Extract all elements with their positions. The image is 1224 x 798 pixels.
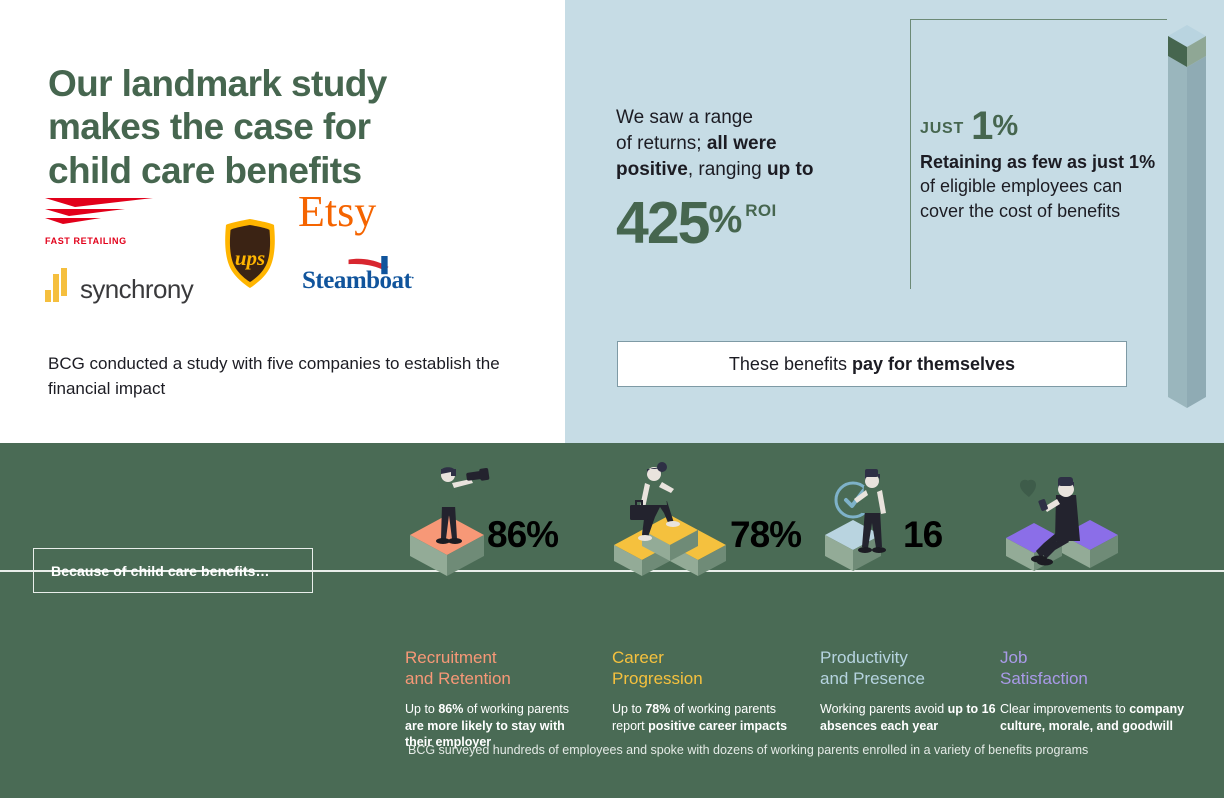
roi-lead-line-3-plain: , ranging	[688, 159, 767, 180]
roi-suffix-label: ROI	[745, 201, 776, 221]
stat-3-title: Job Satisfaction	[1000, 648, 1088, 690]
stat-2-title-line-1: Productivity	[820, 648, 908, 667]
roi-panel: We saw a range of returns; all were posi…	[565, 0, 1224, 443]
stat-1-desc-plain-1: Up to	[612, 702, 645, 716]
logo-fast-retailing: FAST RETAILING	[45, 196, 155, 246]
synchrony-bars-icon	[45, 268, 73, 302]
person-seated-with-heart-icon	[1000, 463, 1205, 578]
stat-3-description: Clear improvements to company culture, m…	[1000, 701, 1185, 734]
logo-etsy-label: Etsy	[298, 190, 376, 234]
stat-1-title-line-2: Progression	[612, 669, 703, 688]
callout-banner: These benefitspay for themselves	[617, 341, 1127, 387]
intro-panel: Our landmark study makes the case for ch…	[0, 0, 565, 443]
just-value: 1	[971, 108, 992, 144]
just-body-plain: of eligible employees can cover the cost…	[920, 176, 1122, 220]
stat-2-title-line-2: and Presence	[820, 669, 925, 688]
stat-0-desc-plain-2: of working parents	[463, 702, 569, 716]
stat-0-desc-plain-1: Up to	[405, 702, 438, 716]
roi-lead-text: We saw a range of returns; all were posi…	[616, 105, 916, 184]
stat-0-value: 86%	[487, 516, 558, 553]
company-logo-row: FAST RETAILING Etsy ups synchrony	[40, 190, 500, 320]
isometric-column-graphic	[1150, 8, 1224, 418]
stat-1-title: Career Progression	[612, 648, 703, 690]
just-label: JUST	[920, 120, 964, 138]
roi-lead-line-3-bold2: up to	[767, 159, 813, 180]
stat-1-title-line-1: Career	[612, 648, 664, 667]
stat-0-title-line-1: Recruitment	[405, 648, 497, 667]
stat-1-desc-bold-2: positive career impacts	[648, 719, 787, 733]
stat-3-title-line-1: Job	[1000, 648, 1027, 667]
logo-etsy: Etsy	[298, 190, 376, 234]
because-of-benefits-label: Because of child care benefits…	[33, 548, 313, 593]
stat-career-progression: 78% Career Progression Up to 78% of work…	[612, 463, 817, 578]
roi-lead-line-1: We saw a range	[616, 107, 753, 128]
stat-1-description: Up to 78% of working parents report posi…	[612, 701, 797, 734]
svg-text:ups: ups	[235, 246, 265, 270]
roi-percent-sign: %	[708, 196, 741, 245]
just-figure: JUST 1 %	[920, 108, 1170, 144]
fast-retailing-mark-icon	[45, 196, 153, 228]
roi-value: 425	[616, 196, 708, 250]
benefits-panel: Because of child care benefits…	[0, 443, 1224, 798]
stat-0-desc-bold-1: 86%	[438, 702, 463, 716]
intro-subcopy: BCG conducted a study with five companie…	[48, 352, 518, 401]
stat-recruitment-and-retention: 86% Recruitment and Retention Up to 86% …	[405, 463, 610, 578]
headline-line-1: Our landmark study	[48, 62, 518, 105]
logo-steamboat: Steamboat.	[302, 268, 414, 293]
stat-2-illustration: 16	[820, 463, 1025, 578]
just-body-bold: Retaining as few as just 1%	[920, 152, 1155, 172]
methodology-footnote: BCG surveyed hundreds of employees and s…	[408, 743, 1198, 757]
callout-bold: pay for themselves	[852, 354, 1015, 375]
stat-2-desc-plain-1: Working parents avoid	[820, 702, 948, 716]
stat-0-title: Recruitment and Retention	[405, 648, 511, 690]
logo-fast-retailing-label: FAST RETAILING	[45, 236, 155, 246]
steamboat-swoosh-icon	[344, 256, 404, 276]
callout-plain: These benefits	[729, 354, 847, 375]
just-percent-sign: %	[992, 109, 1017, 144]
stat-0-title-line-2: and Retention	[405, 669, 511, 688]
roi-block: We saw a range of returns; all were posi…	[616, 105, 916, 250]
logo-synchrony-label: synchrony	[80, 276, 193, 302]
page-title: Our landmark study makes the case for ch…	[48, 62, 518, 192]
stat-2-description: Working parents avoid up to 16 absences …	[820, 701, 1005, 734]
just-one-percent-block: JUST 1 % Retaining as few as just 1% of …	[920, 108, 1170, 223]
stat-1-value: 78%	[730, 516, 801, 553]
stat-3-title-line-2: Satisfaction	[1000, 669, 1088, 688]
headline-line-3: child care benefits	[48, 149, 518, 192]
headline-line-2: makes the case for	[48, 105, 518, 148]
logo-ups: ups	[220, 218, 280, 295]
stat-1-desc-bold-1: 78%	[645, 702, 670, 716]
just-body-text: Retaining as few as just 1% of eligible …	[920, 150, 1170, 223]
stat-job-satisfaction: Job Satisfaction Clear improvements to c…	[1000, 463, 1205, 578]
roi-figure: 425 % ROI	[616, 196, 916, 250]
logo-synchrony: synchrony	[45, 268, 193, 302]
stat-3-desc-plain-1: Clear improvements to	[1000, 702, 1129, 716]
roi-lead-line-3-bold: positive	[616, 159, 688, 180]
ups-shield-icon: ups	[220, 218, 280, 290]
stat-productivity-and-presence: 16 Productivity and Presence Working par…	[820, 463, 1025, 578]
stat-2-value: 16	[903, 516, 942, 553]
stat-2-title: Productivity and Presence	[820, 648, 925, 690]
roi-lead-line-2-plain: of returns;	[616, 133, 707, 154]
stat-1-illustration: 78%	[612, 463, 817, 578]
roi-lead-line-2-bold: all were	[707, 133, 777, 154]
stat-0-illustration: 86%	[405, 463, 610, 578]
stat-3-illustration	[1000, 463, 1205, 578]
